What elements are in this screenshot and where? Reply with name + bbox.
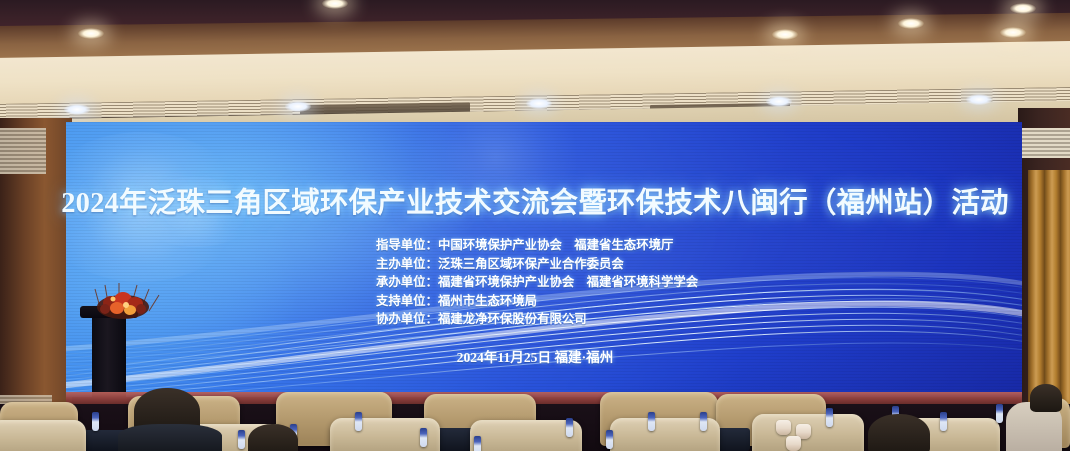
water-bottle: [700, 412, 707, 431]
event-title: 2024年泛珠三角区域环保产业技术交流会暨环保技术八闽行（福州站）活动: [0, 180, 1070, 221]
organizer-line: 指导单位：中国环境保护产业协会 福建省生态环境厅: [376, 236, 694, 255]
water-bottle: [606, 430, 613, 449]
ceiling-downlight-cool: [64, 104, 90, 115]
audience-member-head: [248, 424, 298, 451]
ceiling-downlight-warm: [78, 28, 104, 39]
organizer-line: 承办单位：福建省环境保护产业协会 福建省环境科学学会: [376, 273, 694, 292]
organizer-line: 协办单位：福建龙净环保股份有限公司: [376, 310, 694, 329]
organizer-line: 主办单位：泛珠三角区域环保产业合作委员会: [376, 255, 694, 274]
water-bottle: [355, 412, 362, 431]
tea-cup: [786, 436, 801, 451]
tea-cup: [776, 420, 791, 435]
wall-left-vent: [0, 128, 46, 174]
water-bottle: [940, 412, 947, 431]
ceiling-downlight-warm: [1000, 27, 1026, 38]
chair-front-row: [0, 420, 86, 451]
audience-member-head: [1030, 384, 1062, 412]
ceiling-downlight-cool: [966, 94, 992, 105]
water-bottle: [474, 436, 481, 451]
ceiling-downlight-cool: [766, 96, 792, 107]
water-bottle: [648, 412, 655, 431]
ceiling-downlight-cool: [285, 101, 311, 112]
flower-arrangement: [93, 281, 163, 323]
ceiling-downlight-warm: [772, 29, 798, 40]
ceiling-downlight-warm: [1010, 3, 1036, 14]
water-bottle: [420, 428, 427, 447]
conference-hall-scene: 2024年泛珠三角区域环保产业技术交流会暨环保技术八闽行（福州站）活动 指导单位…: [0, 0, 1070, 451]
audience-member-head: [868, 414, 930, 451]
water-bottle: [996, 404, 1003, 423]
organizer-line: 支持单位：福州市生态环境局: [376, 292, 694, 311]
water-bottle: [238, 430, 245, 449]
water-bottle: [826, 408, 833, 427]
water-bottle: [566, 418, 573, 437]
water-bottle: [92, 412, 99, 431]
wall-right-vent: [1022, 128, 1070, 158]
audience-member-body: [118, 424, 222, 451]
ceiling-downlight-cool: [526, 98, 552, 109]
ceiling-downlight-warm: [898, 18, 924, 29]
event-date-location: 2024年11月25日 福建·福州: [0, 346, 1070, 366]
